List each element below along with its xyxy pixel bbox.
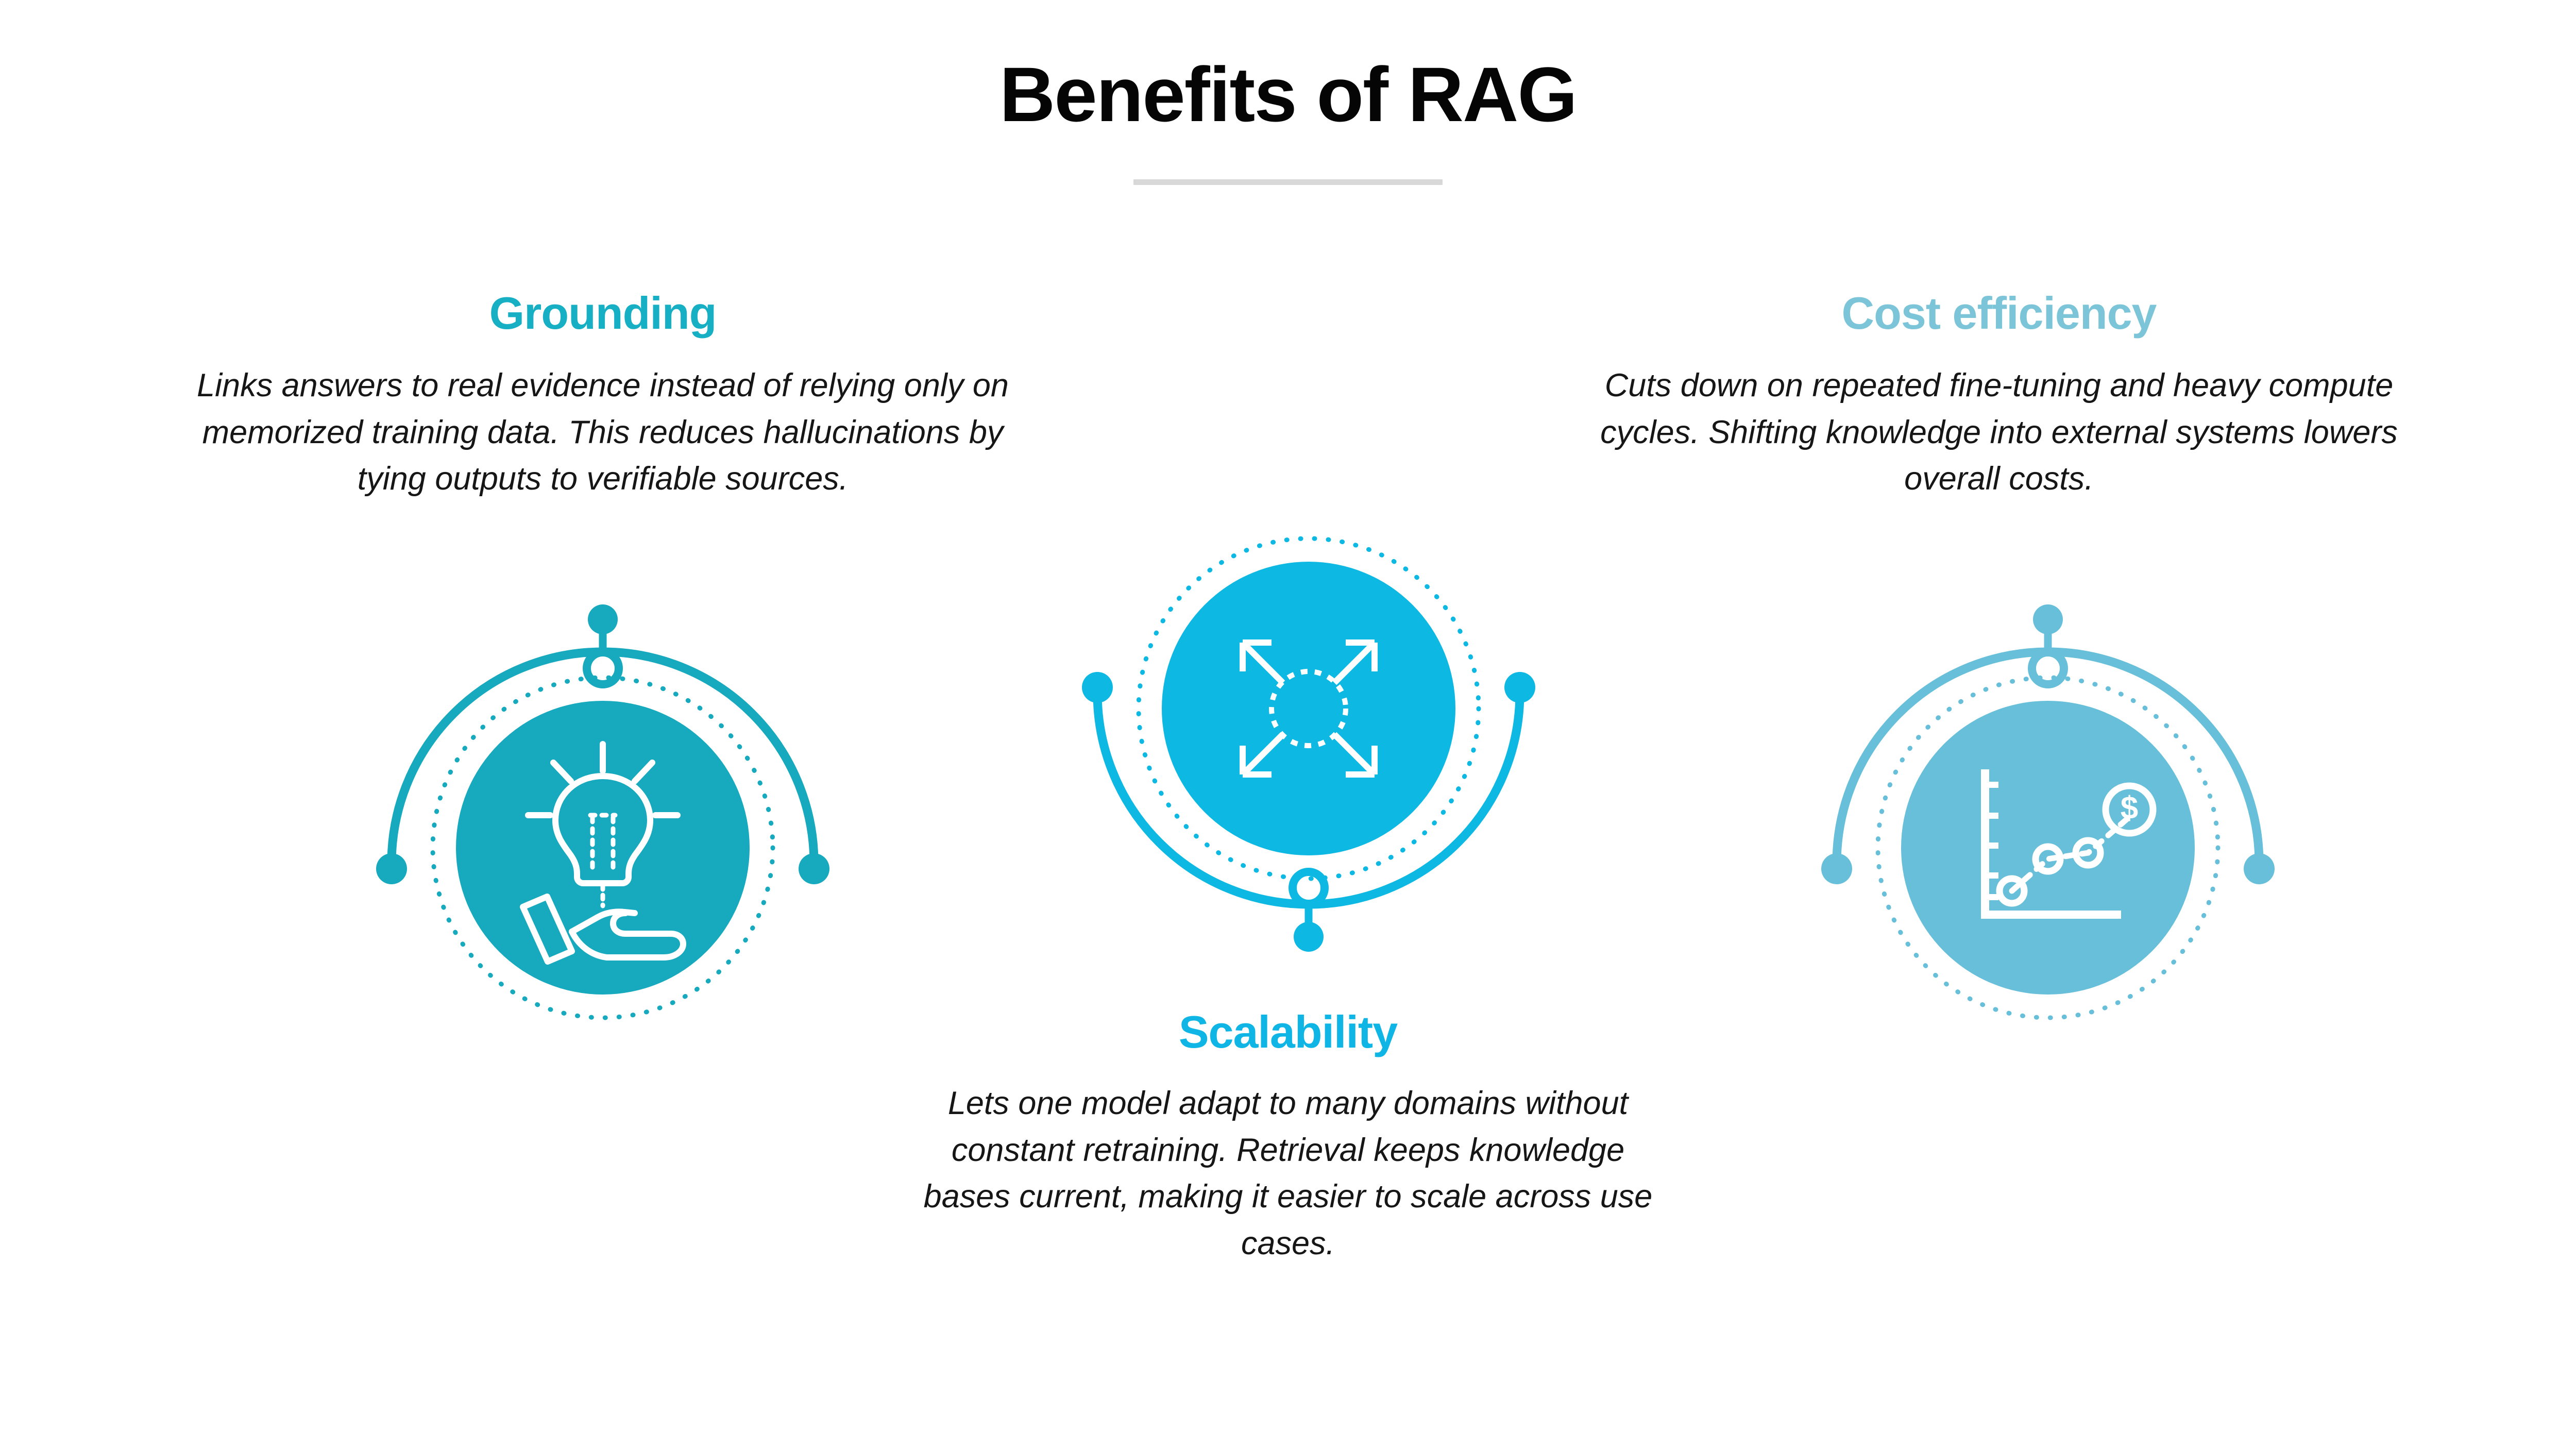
column-scalability: Scalability Lets one model adapt to many… [835,1007,1741,1267]
badge-ring-connector-icon [2032,652,2064,684]
badge-arc-end-dot-right-icon [2244,853,2275,884]
badge-stem-top-dot-icon [588,604,618,634]
column-heading-scalability: Scalability [835,1007,1741,1057]
infographic-slide: Benefits of RAG Grounding Links answers … [0,0,2576,1449]
icon-badge-scalability [1061,541,1556,953]
column-body-grounding: Links answers to real evidence instead o… [124,362,1082,502]
column-grounding: Grounding Links answers to real evidence… [124,289,1082,502]
badge-ring-connector-icon [587,652,619,684]
icon-badge-cost-efficiency: $ [1801,603,2295,1015]
icon-badge-grounding [355,603,850,1015]
svg-text:$: $ [2121,790,2138,826]
column-heading-grounding: Grounding [124,289,1082,339]
badge-arc-end-dot-left-icon [376,853,407,884]
badge-stem-top-dot-icon [2033,604,2063,634]
badge-stem-bottom-dot-icon [1294,922,1324,952]
badge-arc-end-dot-right-icon [799,853,829,884]
page-title: Benefits of RAG [0,54,2576,136]
column-body-scalability: Lets one model adapt to many domains wit… [835,1080,1741,1267]
title-divider [1133,179,1443,185]
column-body-cost-efficiency: Cuts down on repeated fine-tuning and he… [1540,362,2458,502]
badge-arc-end-dot-left-icon [1082,672,1113,703]
badge-arc-end-dot-left-icon [1821,853,1852,884]
column-cost-efficiency: Cost efficiency Cuts down on repeated fi… [1540,289,2458,502]
badge-disc-scalability [1162,562,1455,855]
badge-arc-end-dot-right-icon [1504,672,1535,703]
column-heading-cost-efficiency: Cost efficiency [1540,289,2458,339]
